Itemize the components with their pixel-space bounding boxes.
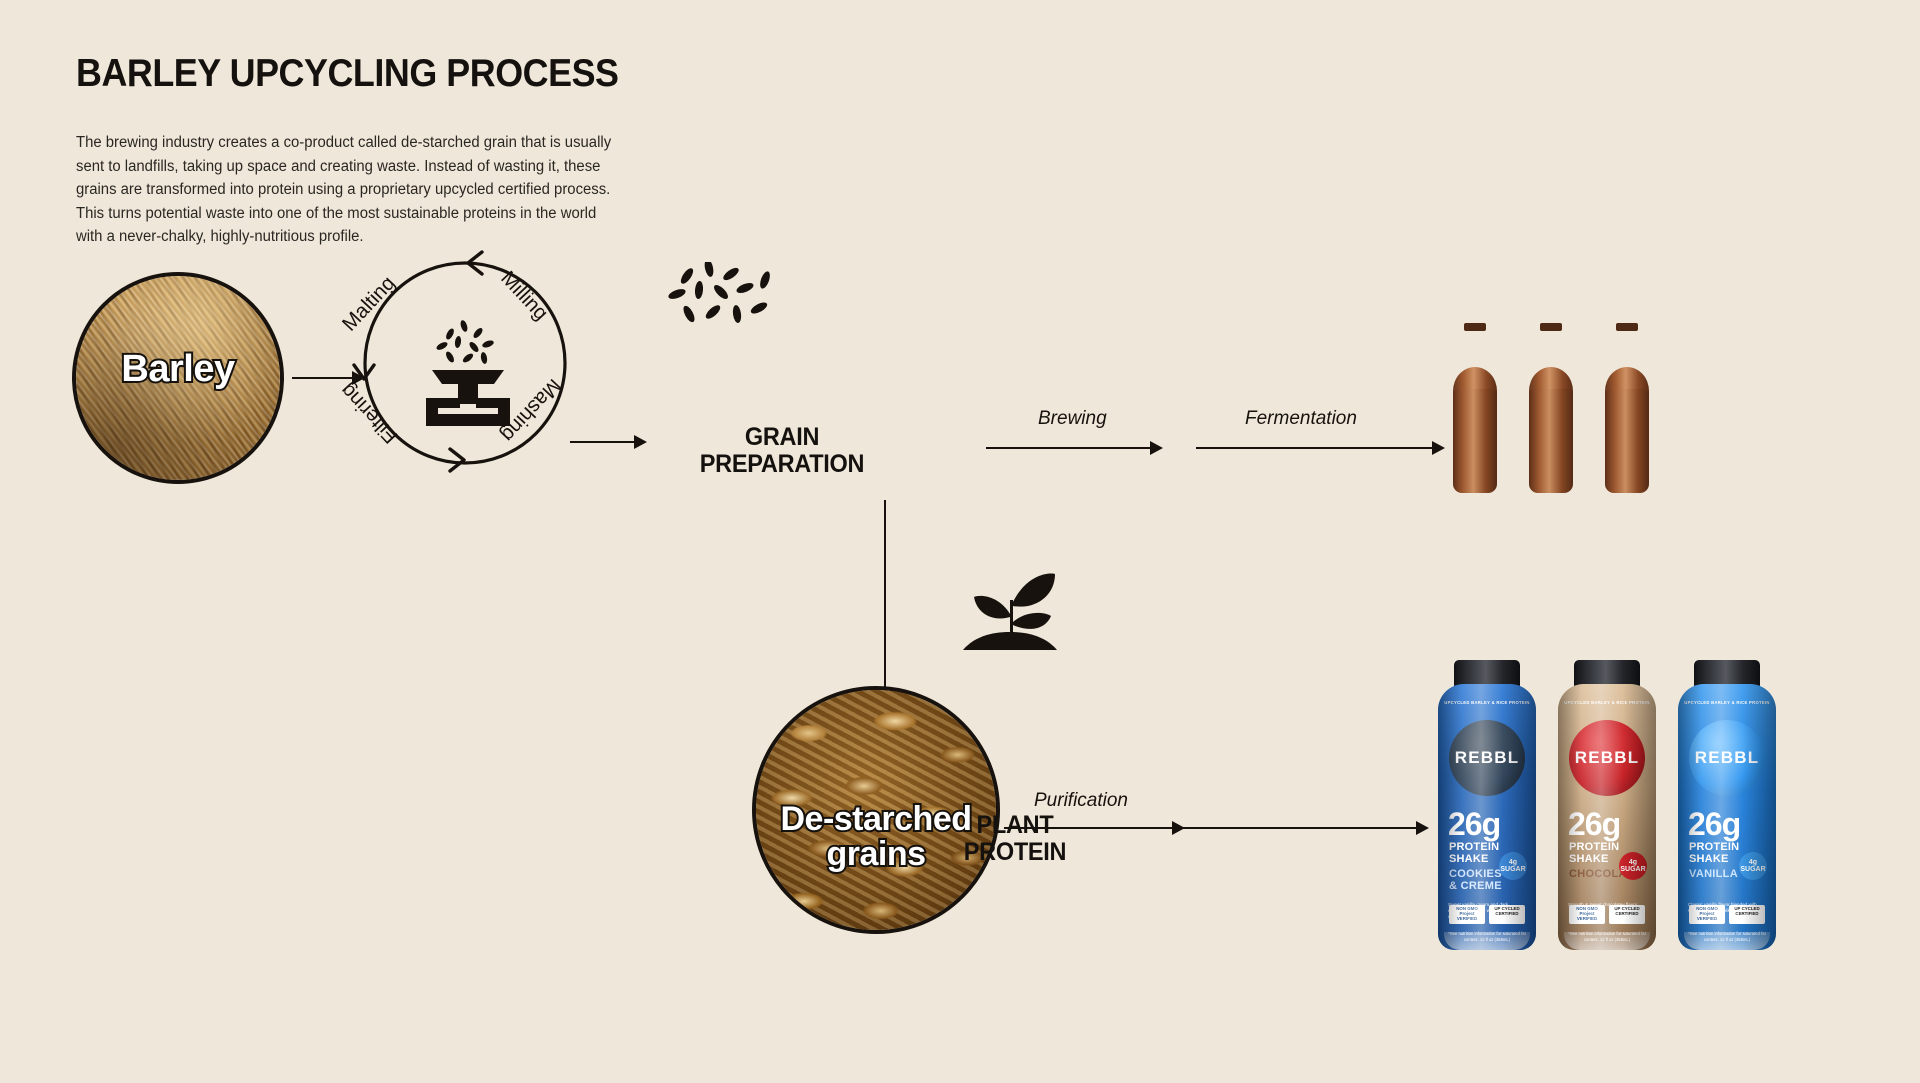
- mash-tun-icon: [420, 320, 516, 430]
- shake-line2: SHAKE: [1449, 854, 1499, 866]
- barley-node-label: Barley: [76, 350, 280, 389]
- destarched-grains-node: De-starched grains: [752, 686, 1000, 934]
- rebbl-shake-bottle: UPCYCLED BARLEY & RICE PROTEIN REBBL 26g…: [1552, 660, 1662, 950]
- shake-protein-shake: PROTEIN SHAKE: [1449, 842, 1499, 865]
- beer-bottle-body: [1605, 389, 1649, 493]
- arrow-protein-to-shakes: [1090, 827, 1420, 829]
- edge-label-purification: Purification: [1034, 790, 1128, 812]
- intro-line: This turns potential waste into one of t…: [76, 202, 575, 226]
- shake-body: UPCYCLED BARLEY & RICE PROTEIN REBBL 26g…: [1438, 684, 1536, 950]
- shake-sugar-badge: 4g SUGAR: [1499, 852, 1527, 880]
- shake-line1: PROTEIN: [1569, 842, 1619, 854]
- shake-sugar-amount: 4g: [1749, 859, 1757, 866]
- shake-topline: UPCYCLED BARLEY & RICE PROTEIN: [1438, 700, 1536, 705]
- shake-brand-orb: REBBL: [1689, 720, 1765, 796]
- shake-brand: REBBL: [1455, 748, 1520, 768]
- arrow-grain-to-brewing-head: [1150, 441, 1163, 455]
- arrow-cycle-to-grain-head: [634, 435, 647, 449]
- arrow-brewing-to-fermentation-head: [1432, 441, 1445, 455]
- upcycled-badge: UP CYCLED CERTIFIED: [1609, 905, 1645, 924]
- intro-line: The brewing industry creates a co-produc…: [76, 131, 575, 155]
- shake-sugar-amount: 4g: [1629, 859, 1637, 866]
- shake-line1: PROTEIN: [1449, 842, 1499, 854]
- arrow-cycle-to-grain: [570, 441, 638, 443]
- grain-preparation-line2: PREPARATION: [679, 451, 886, 478]
- shake-protein-shake: PROTEIN SHAKE: [1689, 842, 1739, 865]
- shake-body: UPCYCLED BARLEY & RICE PROTEIN REBBL 26g…: [1678, 684, 1776, 950]
- shake-brand-orb: REBBL: [1449, 720, 1525, 796]
- non-gmo-badge: NON GMO Project VERIFIED: [1449, 905, 1485, 924]
- shake-sugar-word: SUGAR: [1500, 866, 1525, 873]
- shake-sugar-badge: 4g SUGAR: [1619, 852, 1647, 880]
- grain-seeds-icon: [665, 262, 780, 332]
- intro-line: with a never-chalky, highly-nutritious p…: [76, 225, 575, 249]
- shake-body: UPCYCLED BARLEY & RICE PROTEIN REBBL 26g…: [1558, 684, 1656, 950]
- infographic-canvas: BARLEY UPCYCLING PROCESS The brewing ind…: [0, 0, 1920, 1083]
- shake-base-ring: [1684, 932, 1770, 950]
- shake-base-ring: [1444, 932, 1530, 950]
- shake-badges: NON GMO Project VERIFIED UP CYCLED CERTI…: [1566, 905, 1648, 924]
- shake-grams: 26g: [1568, 806, 1620, 843]
- shake-topline: UPCYCLED BARLEY & RICE PROTEIN: [1558, 700, 1656, 705]
- shake-sugar-badge: 4g SUGAR: [1739, 852, 1767, 880]
- beer-bottle-body: [1529, 389, 1573, 493]
- shake-sugar-word: SUGAR: [1740, 866, 1765, 873]
- shake-flavor-line2: & CREME: [1449, 880, 1502, 892]
- arrow-barley-to-cycle: [292, 377, 356, 379]
- shake-line1: PROTEIN: [1689, 842, 1739, 854]
- rebbl-shake-bottle: UPCYCLED BARLEY & RICE PROTEIN REBBL 26g…: [1432, 660, 1542, 950]
- shake-badges: NON GMO Project VERIFIED UP CYCLED CERTI…: [1446, 905, 1528, 924]
- edge-label-fermentation: Fermentation: [1245, 408, 1357, 430]
- shake-brand: REBBL: [1575, 748, 1640, 768]
- grain-preparation-node: GRAIN PREPARATION: [679, 424, 886, 478]
- edge-label-brewing: Brewing: [1038, 408, 1107, 430]
- intro-paragraph: The brewing industry creates a co-produc…: [76, 131, 575, 249]
- plant-protein-line1: PLANT: [945, 812, 1086, 839]
- plant-protein-line2: PROTEIN: [945, 839, 1086, 866]
- upcycled-badge: UP CYCLED CERTIFIED: [1729, 905, 1765, 924]
- rebbl-shake-bottle: UPCYCLED BARLEY & RICE PROTEIN REBBL 26g…: [1672, 660, 1782, 950]
- non-gmo-badge: NON GMO Project VERIFIED: [1689, 905, 1725, 924]
- shake-flavor: VANILLA: [1689, 868, 1738, 880]
- shake-sugar-word: SUGAR: [1620, 866, 1645, 873]
- shake-protein-shake: PROTEIN SHAKE: [1569, 842, 1619, 865]
- beer-bottle: [1525, 327, 1577, 493]
- connector-grain-to-destarched: [884, 500, 886, 690]
- barley-node: Barley: [72, 272, 284, 484]
- shake-grams: 26g: [1688, 806, 1740, 843]
- shake-flavor: COOKIES & CREME: [1449, 868, 1502, 892]
- plant-protein-node: PLANT PROTEIN: [945, 812, 1086, 866]
- page-title: BARLEY UPCYCLING PROCESS: [76, 52, 619, 96]
- shake-brand-orb: REBBL: [1569, 720, 1645, 796]
- shake-badges: NON GMO Project VERIFIED UP CYCLED CERTI…: [1686, 905, 1768, 924]
- upcycled-badge: UP CYCLED CERTIFIED: [1489, 905, 1525, 924]
- beer-bottle: [1601, 327, 1653, 493]
- sprout-icon: [955, 570, 1065, 660]
- intro-line: sent to landfills, taking up space and c…: [76, 155, 575, 179]
- grain-preparation-line1: GRAIN: [679, 424, 886, 451]
- shake-line2: SHAKE: [1569, 854, 1619, 866]
- shake-base-ring: [1564, 932, 1650, 950]
- non-gmo-badge: NON GMO Project VERIFIED: [1569, 905, 1605, 924]
- intro-line: grains are transformed into protein usin…: [76, 178, 575, 202]
- beer-bottle: [1449, 327, 1501, 493]
- shake-sugar-amount: 4g: [1509, 859, 1517, 866]
- shake-brand: REBBL: [1695, 748, 1760, 768]
- arrow-grain-to-brewing: [986, 447, 1154, 449]
- arrow-brewing-to-fermentation: [1196, 447, 1436, 449]
- beer-bottle-body: [1453, 389, 1497, 493]
- shake-flavor-line1: COOKIES: [1449, 868, 1502, 880]
- shake-topline: UPCYCLED BARLEY & RICE PROTEIN: [1678, 700, 1776, 705]
- shake-flavor-line1: VANILLA: [1689, 868, 1738, 880]
- arrow-protein-to-shakes-head: [1416, 821, 1429, 835]
- shake-line2: SHAKE: [1689, 854, 1739, 866]
- shake-grams: 26g: [1448, 806, 1500, 843]
